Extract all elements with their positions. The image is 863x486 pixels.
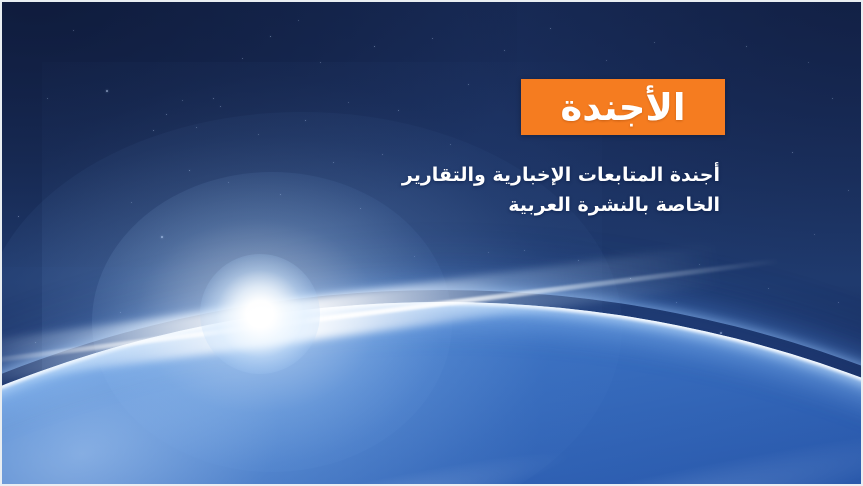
banner-title: الأجندة [560,89,685,126]
agenda-banner: الأجندة أجندة المتابعات الإخبارية والتقا… [0,0,863,486]
title-badge: الأجندة [521,79,725,135]
subtitle-line-1: أجندة المتابعات الإخبارية والتقارير [290,160,720,190]
banner-content: الأجندة أجندة المتابعات الإخبارية والتقا… [2,2,861,484]
banner-subtitle: أجندة المتابعات الإخبارية والتقارير الخا… [290,160,720,220]
subtitle-line-2: الخاصة بالنشرة العربية [290,190,720,220]
